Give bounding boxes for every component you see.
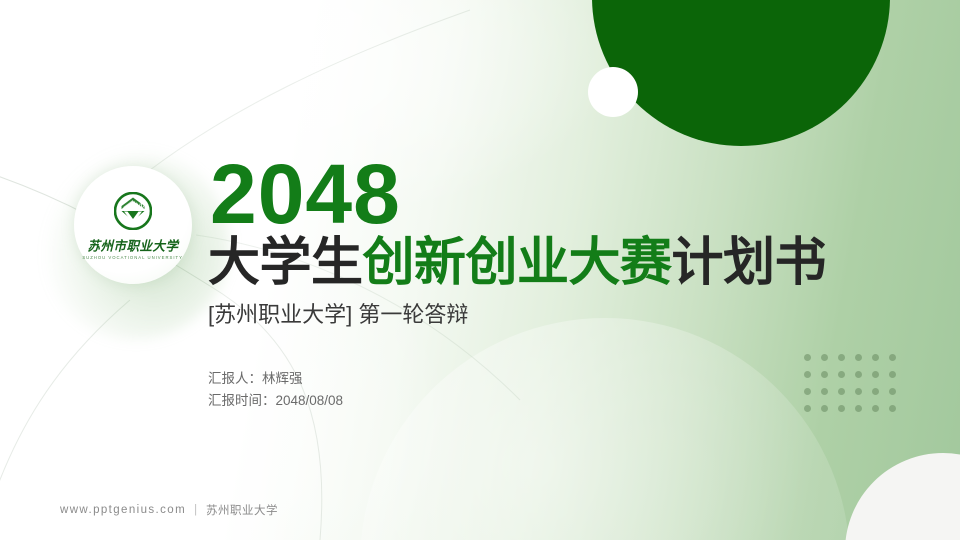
- footer-website[interactable]: www.pptgenius.com: [60, 504, 186, 516]
- dot-grid-decoration: [804, 354, 906, 422]
- page-title: 大学生创新创业大赛计划书: [208, 234, 826, 292]
- report-date-line: 汇报时间：2048/08/08: [208, 390, 343, 412]
- headline-part-3: 计划书: [672, 234, 827, 292]
- presentation-meta: 汇报人：林辉强 汇报时间：2048/08/08: [208, 368, 343, 412]
- university-emblem-icon: SVU: [114, 192, 152, 230]
- page-subtitle: [苏州职业大学] 第一轮答辩: [208, 300, 468, 330]
- small-white-circle: [588, 67, 638, 117]
- headline-part-1: 大学生: [208, 234, 363, 292]
- emblem-initials: SVU: [133, 204, 144, 210]
- logo-name-cn: 苏州市职业大学: [87, 235, 178, 255]
- presentation-cover-slide: SVU 苏州市职业大学 SUZHOU VOCATIONAL UNIVERSITY…: [0, 0, 960, 540]
- year-heading: 2048: [210, 152, 401, 236]
- footer-separator: |: [194, 504, 198, 516]
- university-logo: SVU 苏州市职业大学 SUZHOU VOCATIONAL UNIVERSITY: [74, 166, 192, 284]
- footer: www.pptgenius.com | 苏州职业大学: [60, 502, 278, 518]
- logo-name-en: SUZHOU VOCATIONAL UNIVERSITY: [83, 256, 184, 261]
- footer-organization: 苏州职业大学: [206, 502, 278, 518]
- presenter-line: 汇报人：林辉强: [208, 368, 343, 390]
- headline-part-2-accent: 创新创业大赛: [363, 234, 672, 292]
